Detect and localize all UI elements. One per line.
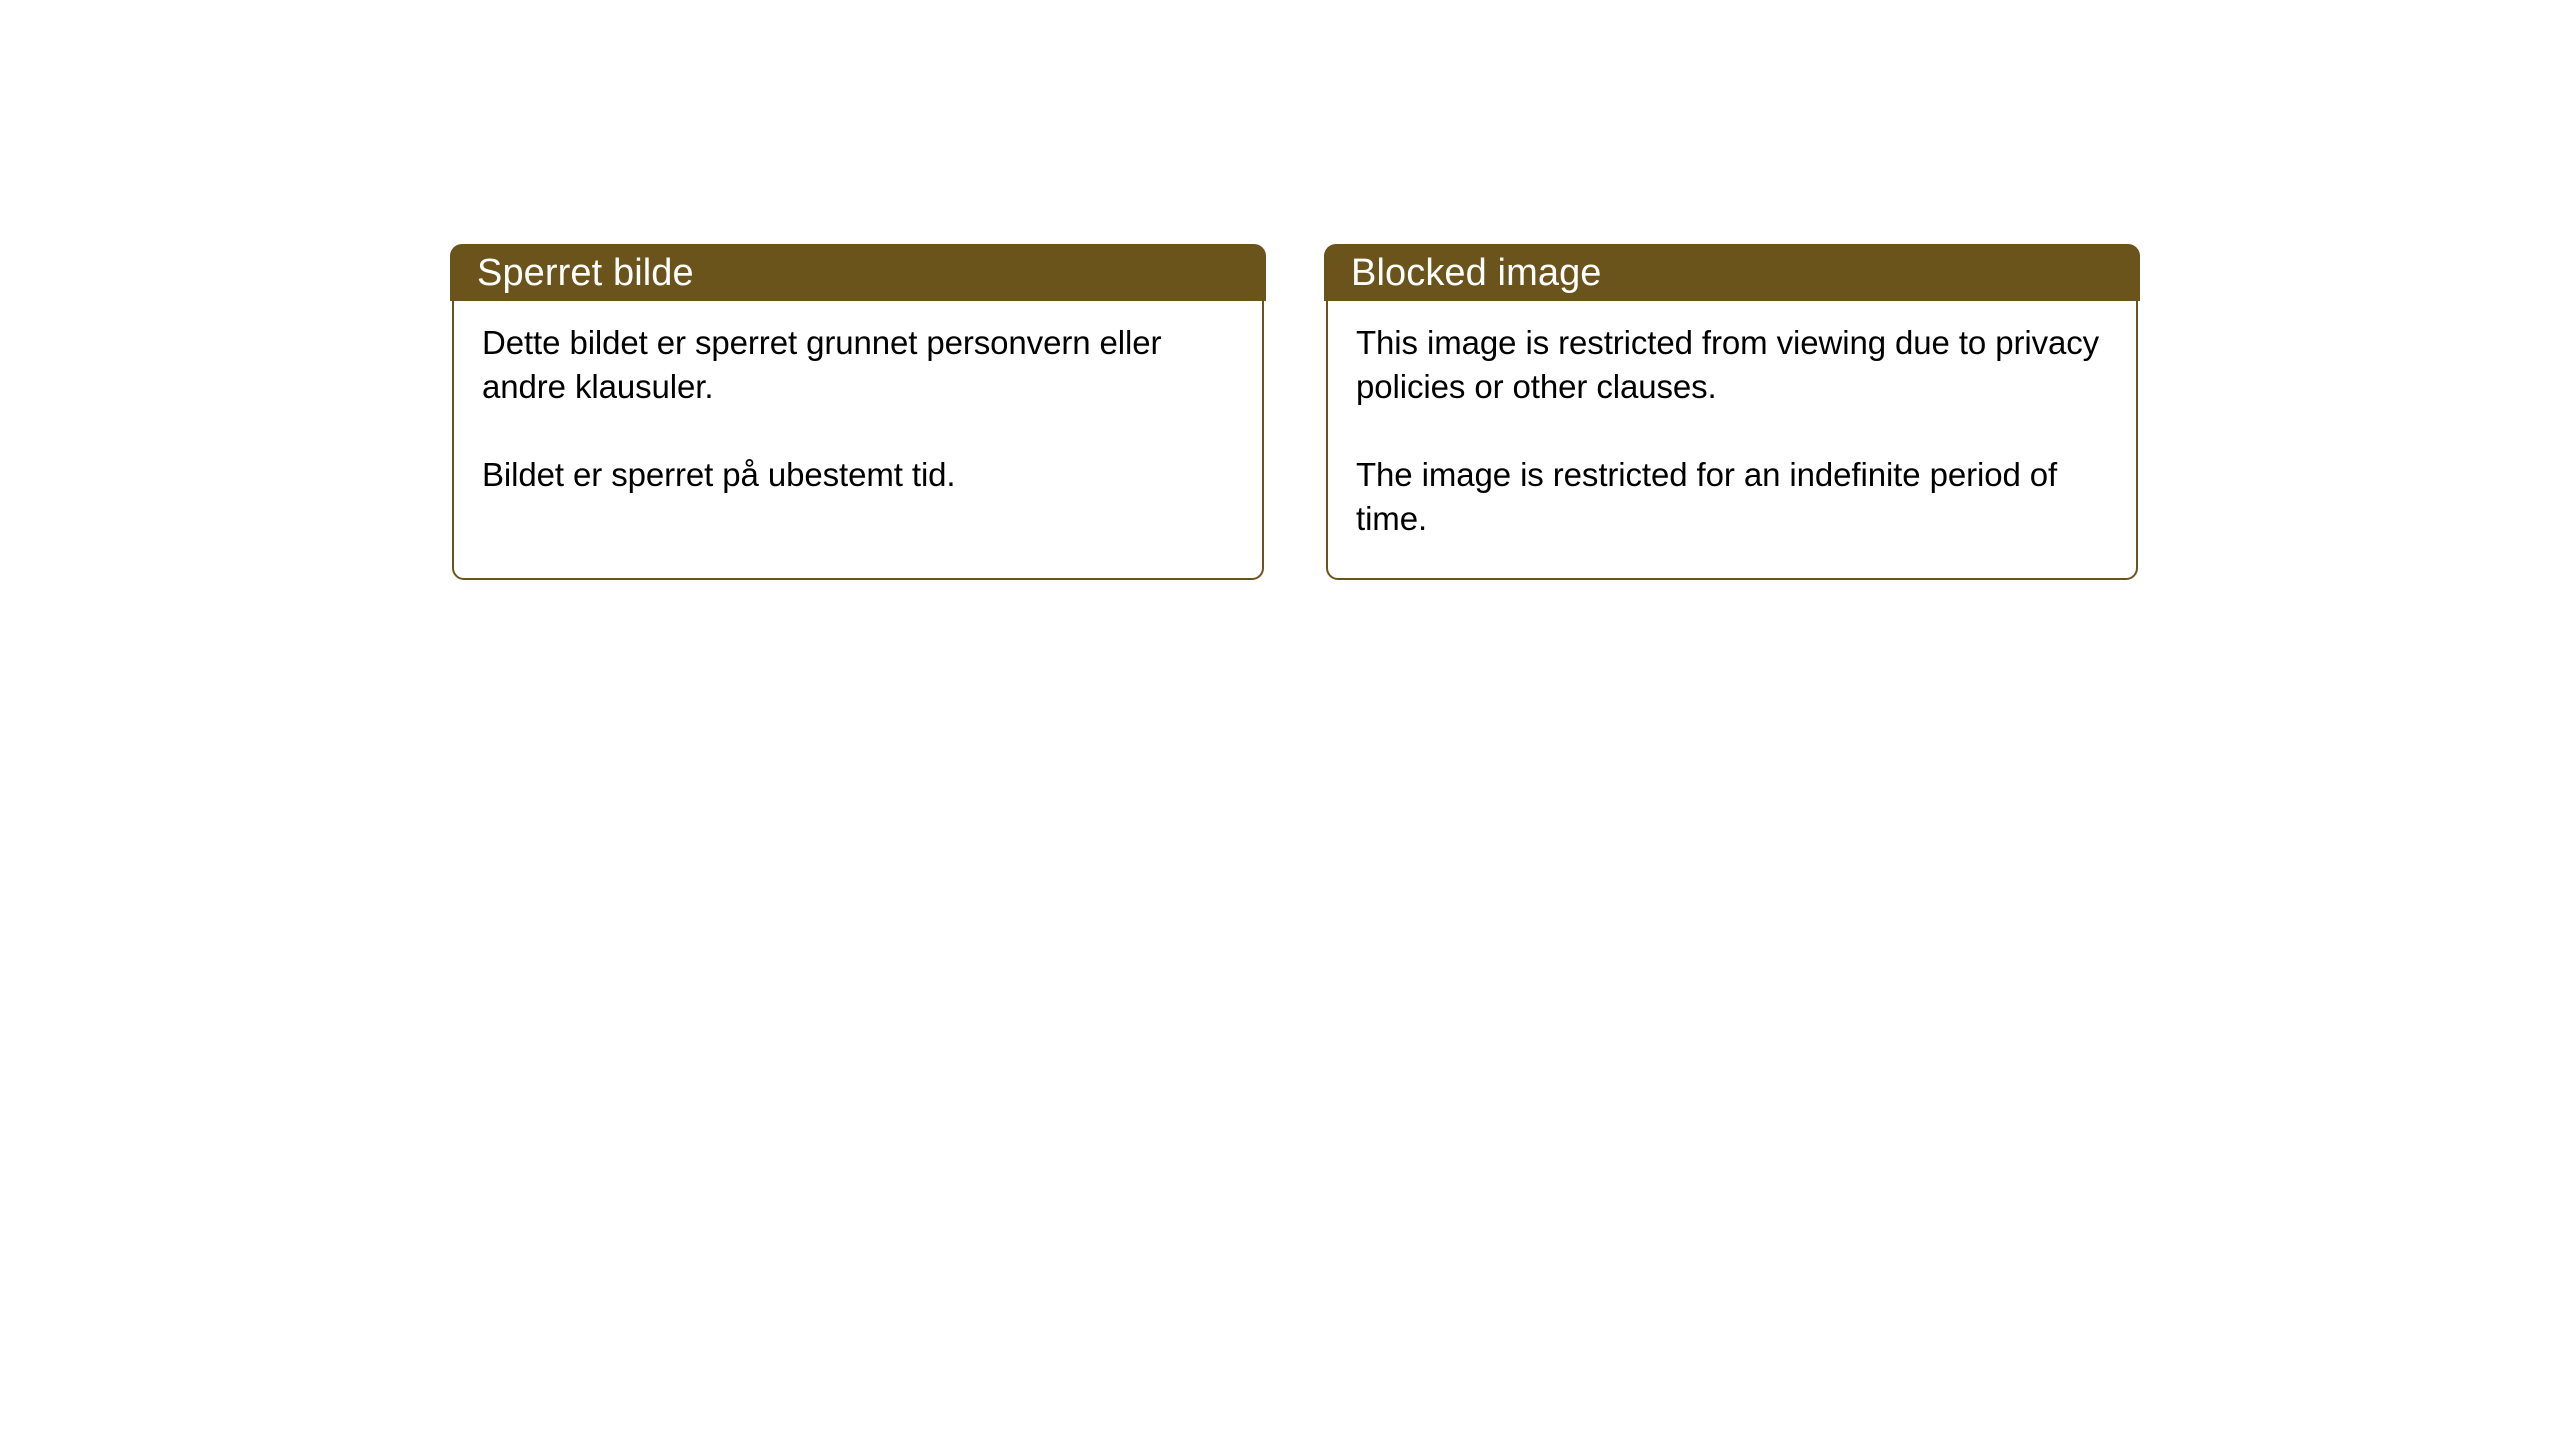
blocked-image-notice-en: Blocked image This image is restricted f… (1326, 244, 2138, 580)
panel-body-en: This image is restricted from viewing du… (1328, 303, 2136, 578)
panel-header-en: Blocked image (1324, 244, 2140, 301)
panel-header-no: Sperret bilde (450, 244, 1266, 301)
panel-body-no: Dette bildet er sperret grunnet personve… (454, 303, 1262, 578)
panel-paragraph-reason-no: Dette bildet er sperret grunnet personve… (482, 321, 1238, 409)
panel-title-en: Blocked image (1324, 254, 1602, 292)
panel-title-no: Sperret bilde (450, 254, 694, 292)
panel-paragraph-reason-en: This image is restricted from viewing du… (1356, 321, 2112, 409)
blocked-image-notice-no: Sperret bilde Dette bildet er sperret gr… (452, 244, 1264, 580)
panel-paragraph-duration-no: Bildet er sperret på ubestemt tid. (482, 453, 1238, 497)
panel-frame: Blocked image This image is restricted f… (1326, 244, 2138, 580)
panel-paragraph-duration-en: The image is restricted for an indefinit… (1356, 453, 2112, 541)
panel-frame: Sperret bilde Dette bildet er sperret gr… (452, 244, 1264, 580)
